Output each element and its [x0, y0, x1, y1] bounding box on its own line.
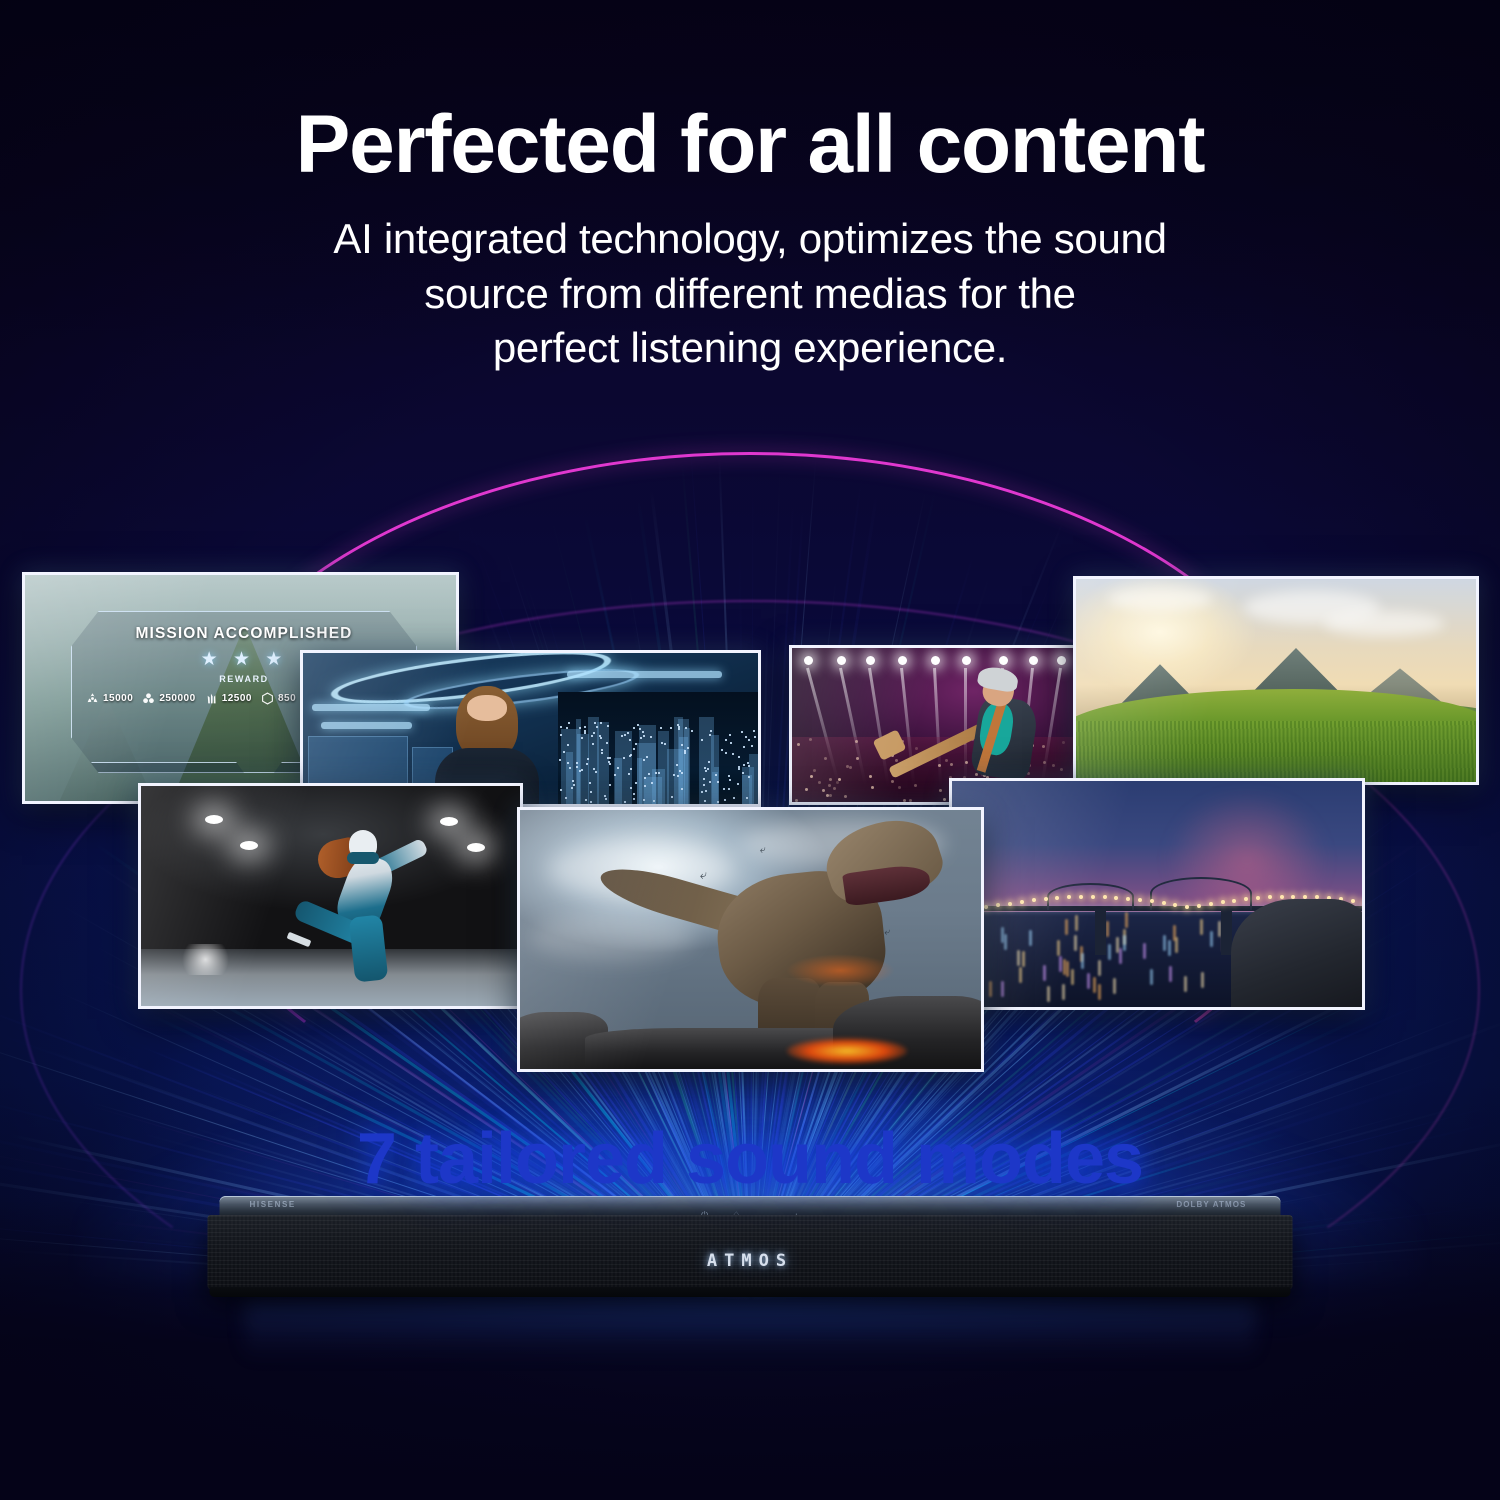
city-skyline-backdrop — [558, 692, 758, 804]
radiation-icon — [86, 692, 99, 705]
reward-value: 250000 — [159, 693, 195, 704]
bridge-pier — [1221, 909, 1232, 955]
subtitle-line-1: AI integrated technology, optimizes the … — [160, 212, 1340, 267]
dolby-atmos-logo: DOLBY ATMOS — [1176, 1200, 1246, 1209]
arena-light — [440, 817, 458, 826]
soundbar-reflection — [245, 1300, 1255, 1360]
soundbar-led-display: ATMOS — [707, 1251, 793, 1271]
subtitle-line-3: perfect listening experience. — [160, 321, 1340, 376]
nature-content-panel[interactable] — [1073, 576, 1479, 785]
reward-item: 850 — [261, 692, 296, 705]
soundbar-base — [210, 1287, 1291, 1297]
soundbar-device[interactable]: HISENSE DOLBY ATMOS ⏻ ♢ − + ATMOS — [208, 1196, 1293, 1304]
crystal-icon — [205, 692, 218, 705]
ore-spheres-icon — [142, 692, 155, 705]
rex-underglow — [786, 954, 895, 987]
page-title: Perfected for all content — [0, 104, 1500, 186]
skater-leg-lead — [348, 914, 388, 982]
brand-logo-left: HISENSE — [250, 1200, 296, 1209]
ice-spray — [175, 944, 236, 975]
riverbank-rocks — [1231, 899, 1365, 1010]
studio-light-bar — [321, 722, 412, 729]
reward-value: 15000 — [103, 693, 133, 704]
sports-content-panel[interactable] — [138, 783, 523, 1009]
arena-light — [240, 841, 258, 850]
skater-visor — [347, 852, 379, 864]
bridge-pier — [1095, 909, 1106, 955]
lava-glow — [787, 1038, 907, 1064]
storm-cloud — [529, 914, 695, 961]
mission-status-text: MISSION ACCOMPLISHED — [72, 625, 416, 643]
reward-item: 250000 — [142, 692, 195, 705]
promo-banner: Perfected for all content AI integrated … — [0, 0, 1500, 1500]
reward-value: 850 — [278, 693, 296, 704]
studio-light-bar — [567, 671, 722, 678]
reward-item: 12500 — [205, 692, 252, 705]
reward-value: 12500 — [222, 693, 252, 704]
reward-item: 15000 — [86, 692, 133, 705]
subtitle-line-2: source from different medias for the — [160, 267, 1340, 322]
sound-modes-caption: 7 tailored sound modes — [0, 1118, 1500, 1200]
arena-light — [205, 815, 223, 824]
skate-blade — [286, 932, 311, 947]
night-content-panel[interactable] — [949, 778, 1365, 1010]
headline-block: Perfected for all content AI integrated … — [0, 104, 1500, 376]
grass-texture — [1076, 721, 1476, 782]
cloud — [1324, 611, 1444, 635]
cube-icon — [261, 692, 274, 705]
speed-skater — [285, 830, 437, 1002]
movie-content-panel[interactable]: ⤶ ⤶ ⤶ — [517, 807, 984, 1072]
studio-light-bar — [312, 704, 430, 711]
soundbar-grille: ATMOS — [208, 1215, 1293, 1289]
